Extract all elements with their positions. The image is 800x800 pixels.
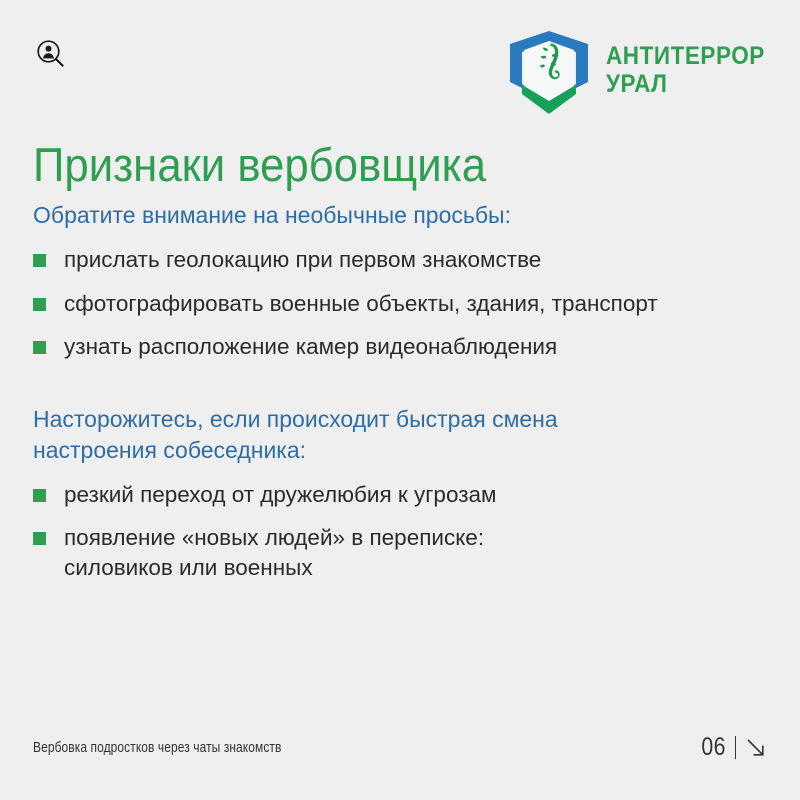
- section-heading: Обратите внимание на необычные просьбы:: [33, 200, 673, 231]
- bullet-square-icon: [33, 341, 46, 354]
- arrow-down-right-icon[interactable]: [745, 737, 767, 759]
- footer-pager: 06: [697, 733, 767, 762]
- top-bar: АНТИТЕРРОР УРАЛ: [0, 0, 800, 120]
- shield-lizard-logo-icon: [506, 26, 592, 118]
- section-mood-change: Насторожитесь, если происходит быстрая с…: [33, 404, 773, 583]
- bullet-square-icon: [33, 298, 46, 311]
- bullet-square-icon: [33, 489, 46, 502]
- brand-line-2: УРАЛ: [606, 71, 765, 97]
- list-item: сфотографировать военные объекты, здания…: [33, 289, 773, 319]
- list-item-text: сфотографировать военные объекты, здания…: [64, 289, 658, 319]
- footer-caption: Вербовка подростков через чаты знакомств: [33, 739, 281, 756]
- bullet-list: прислать геолокацию при первом знакомств…: [33, 245, 773, 363]
- page-title: Признаки вербовщика: [33, 139, 486, 191]
- page-number: 06: [702, 733, 726, 762]
- list-item-text: узнать расположение камер видеонаблюдени…: [64, 332, 557, 362]
- brand-wordmark: АНТИТЕРРОР УРАЛ: [606, 43, 782, 101]
- section-heading: Насторожитесь, если происходит быстрая с…: [33, 404, 673, 465]
- content-body: Обратите внимание на необычные просьбы: …: [33, 200, 773, 583]
- section-unusual-requests: Обратите внимание на необычные просьбы: …: [33, 200, 773, 362]
- brand-logo: АНТИТЕРРОР УРАЛ: [506, 26, 782, 118]
- bullet-square-icon: [33, 254, 46, 267]
- slide-root: АНТИТЕРРОР УРАЛ Признаки вербовщика Обра…: [0, 0, 800, 800]
- list-item: узнать расположение камер видеонаблюдени…: [33, 332, 773, 362]
- bullet-square-icon: [33, 532, 46, 545]
- find-person-icon: [33, 36, 69, 72]
- list-item: появление «новых людей» в переписке: сил…: [33, 523, 773, 583]
- list-item-text: резкий переход от дружелюбия к угрозам: [64, 480, 497, 510]
- list-item: резкий переход от дружелюбия к угрозам: [33, 480, 773, 510]
- list-item-text: прислать геолокацию при первом знакомств…: [64, 245, 541, 275]
- brand-line-1: АНТИТЕРРОР: [606, 43, 765, 69]
- list-item: прислать геолокацию при первом знакомств…: [33, 245, 773, 275]
- footer-divider: [735, 736, 736, 759]
- list-item-text: появление «новых людей» в переписке: сил…: [64, 523, 484, 583]
- footer: Вербовка подростков через чаты знакомств…: [33, 733, 767, 762]
- bullet-list: резкий переход от дружелюбия к угрозам п…: [33, 480, 773, 584]
